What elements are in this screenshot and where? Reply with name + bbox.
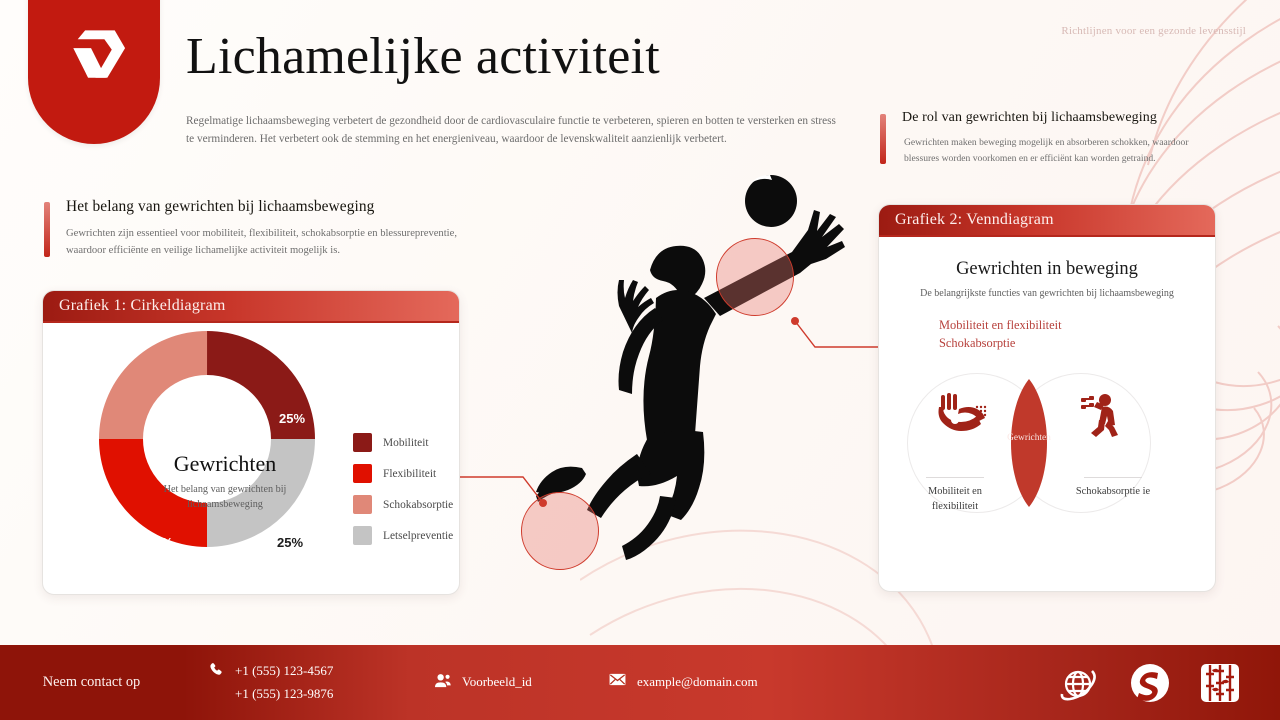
page-subtitle: Regelmatige lichaamsbeweging verbetert d… — [186, 112, 846, 149]
venn-intersection-label: Gewrichten — [997, 433, 1061, 443]
phone-number-1: +1 (555) 123-4567 — [235, 660, 333, 682]
callout-right: De rol van gewrichten bij lichaamsbewegi… — [880, 110, 1220, 166]
contact-items: +1 (555) 123-4567 +1 (555) 123-9876 Voor… — [183, 660, 1058, 704]
legend-item: Schokabsorptie — [353, 495, 453, 514]
venn-label-right: Schokabsorptie ie — [1073, 485, 1153, 500]
donut-value-label: 25% — [279, 411, 305, 426]
venn-function-list: Mobiliteit en flexibiliteit Schokabsorpt… — [939, 317, 1215, 353]
contact-username[interactable]: Voorbeeld_id — [434, 671, 609, 693]
donut-value-label: 25% — [277, 535, 303, 550]
venn-subtitle: De belangrijkste functies van gewrichten… — [879, 288, 1215, 299]
brand-logo — [28, 0, 160, 144]
arm-joint-icon — [935, 393, 987, 437]
phone-number-2: +1 (555) 123-9876 — [235, 683, 333, 705]
callout-left-heading: Het belang van gewrichten bij lichaamsbe… — [66, 198, 474, 216]
s-circle-icon — [1128, 661, 1172, 705]
venn-label-left: Mobiliteit en flexibiliteit — [915, 485, 995, 514]
shoulder-joint-hotspot — [716, 238, 794, 316]
legend-item: Letselpreventie — [353, 526, 453, 545]
person-exercising-icon — [1075, 393, 1123, 437]
phone-icon — [209, 662, 224, 677]
chart-card-donut: Grafiek 1: Cirkeldiagram 25% 25% 25% — [42, 290, 460, 595]
page-title: Lichamelijke activiteit — [186, 26, 660, 87]
venn-title: Gewrichten in beweging — [879, 259, 1215, 280]
venn-card-header-label: Grafiek 2: Venndiagram — [879, 211, 1054, 229]
donut-card-header: Grafiek 1: Cirkeldiagram — [43, 291, 459, 323]
legend-label: Mobiliteit — [383, 437, 429, 449]
legend-swatch — [353, 495, 372, 514]
venn-function-item: Mobiliteit en flexibiliteit — [939, 317, 1215, 335]
donut-center-title: Gewrichten — [139, 451, 311, 477]
globe-orbit-icon — [1058, 661, 1102, 705]
contact-email[interactable]: example@domain.com — [609, 671, 849, 693]
callout-left-body: Gewrichten zijn essentieel voor mobilite… — [66, 225, 474, 259]
accent-bar — [880, 114, 886, 164]
contact-phone-text: +1 (555) 123-4567 +1 (555) 123-9876 — [235, 660, 333, 704]
legend-item: Flexibiliteit — [353, 464, 453, 483]
donut-card-header-label: Grafiek 1: Cirkeldiagram — [43, 297, 226, 315]
venn-divider-left — [926, 477, 984, 478]
venn-function-item: Schokabsorptie — [939, 335, 1215, 353]
contact-email-text: example@domain.com — [637, 671, 758, 693]
legend-swatch — [353, 464, 372, 483]
shield-logo-icon — [57, 23, 131, 97]
contact-username-text: Voorbeeld_id — [462, 671, 532, 693]
header-tagline: Richtlijnen voor een gezonde levensstijl — [1061, 25, 1246, 37]
partner-logos — [1058, 661, 1280, 705]
legend-swatch — [353, 526, 372, 545]
legend-swatch — [353, 433, 372, 452]
donut-chart-svg — [99, 331, 315, 547]
venn-intersection-lens — [997, 379, 1061, 507]
contact-footer-label: Neem contact op — [0, 645, 183, 720]
donut-value-label: 25% — [147, 411, 173, 426]
legend-label: Letselpreventie — [383, 530, 453, 542]
bamboo-square-icon — [1198, 661, 1242, 705]
callout-right-body: Gewrichten maken beweging mogelijk en ab… — [904, 135, 1220, 166]
venn-divider-right — [1084, 477, 1142, 478]
legend-label: Schokabsorptie — [383, 499, 453, 511]
envelope-icon — [609, 673, 626, 686]
infographic-canvas: Lichamelijke activiteit Regelmatige lich… — [0, 0, 1280, 720]
legend-label: Flexibiliteit — [383, 468, 436, 480]
donut-value-label: 25% — [147, 535, 173, 550]
callout-right-heading: De rol van gewrichten bij lichaamsbewegi… — [902, 110, 1220, 126]
callout-left: Het belang van gewrichten bij lichaamsbe… — [44, 198, 474, 259]
ankle-joint-hotspot — [521, 492, 599, 570]
donut-chart: 25% 25% 25% 25% Gewrichten Het belang va… — [43, 323, 460, 593]
venn-card-header: Grafiek 2: Venndiagram — [879, 205, 1215, 237]
venn-diagram: Gewrichten — [879, 365, 1216, 545]
chart-card-venn: Grafiek 2: Venndiagram Gewrichten in bew… — [878, 204, 1216, 592]
legend-item: Mobiliteit — [353, 433, 453, 452]
contact-footer: Neem contact op +1 (555) 123-4567 +1 (55… — [0, 645, 1280, 720]
contact-phone[interactable]: +1 (555) 123-4567 +1 (555) 123-9876 — [209, 660, 434, 704]
accent-bar — [44, 202, 50, 257]
user-icon — [434, 673, 451, 688]
donut-legend: Mobiliteit Flexibiliteit Schokabsorptie … — [353, 433, 453, 557]
donut-center-subtitle: Het belang van gewrichten bij lichaamsbe… — [133, 483, 317, 513]
